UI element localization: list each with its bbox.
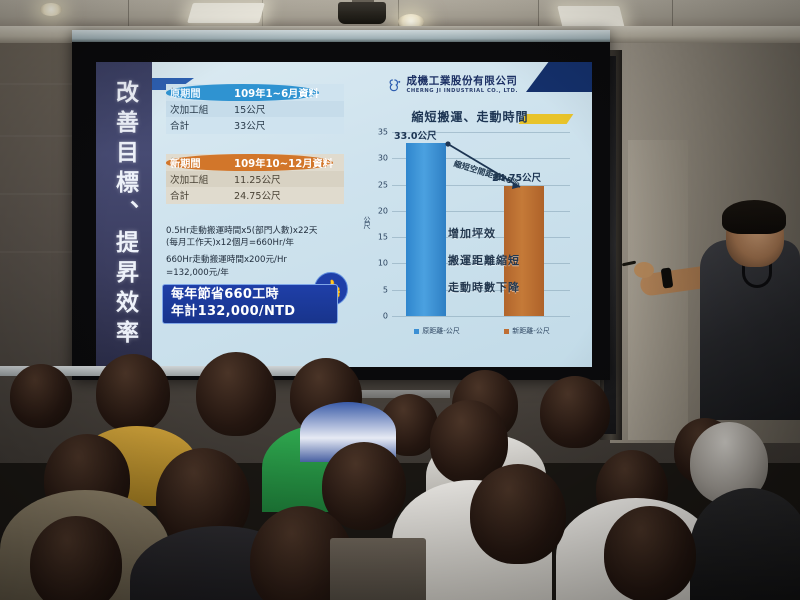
bar-chart: 縮短搬運、走動時間 公尺 0 5 10 15 20 25 30 35 [358,108,576,354]
y-tick-label: 20 [378,206,388,215]
table-header-label: 新期間 [166,155,228,170]
projected-slide: 改善目標、提昇效率 成機工業股份有限公司 CHERNG JI INDUSTRIA… [96,62,592,367]
screenshot-stage: 改善目標、提昇效率 成機工業股份有限公司 CHERNG JI INDUSTRIA… [0,0,800,600]
logo-mark-icon [388,77,403,93]
logo-company-name-cn: 成機工業股份有限公司 [407,76,518,87]
wall-texture-line [0,193,72,195]
table-cell-label: 合計 [166,118,228,132]
audience-head [322,442,406,530]
projection-screen-roller [72,30,610,42]
savings-line-2: 年計132,000/NTD [171,304,337,321]
presenter-hair [722,200,786,234]
slide-vertical-title-band: 改善目標、提昇效率 [96,62,152,367]
y-tick-label: 25 [378,180,388,189]
savings-callout-box: 每年節省660工時 年計132,000/NTD [162,284,338,324]
ceiling-light-panel [187,3,265,23]
table-header-label: 原期間 [166,85,228,100]
table-row: 次加工組 11.25公尺 [166,171,344,188]
audience-shoulders [690,488,800,600]
calculation-line-2: (每月工作天)x12個月=660Hr/年 [166,238,294,248]
audience-head [470,464,566,564]
calculation-line-4: =132,000元/年 [166,268,229,278]
table-cell-label: 合計 [166,188,228,202]
y-tick-label: 10 [378,259,388,268]
company-logo: 成機工業股份有限公司 CHERNG JI INDUSTRIAL CO., LTD… [388,76,518,94]
ceiling-spotlight [40,3,62,16]
gridline: 0 [392,316,570,317]
audience [0,330,800,600]
table-row: 合計 33公尺 [166,117,344,134]
logo-company-name-en: CHERNG JI INDUSTRIAL CO., LTD. [407,88,518,94]
wall-texture-line [0,135,72,137]
header-navy-accent [526,62,592,92]
table-header-row: 新期間 109年10~12月資料 [166,154,333,171]
audience-head [10,364,72,428]
table-cell-value: 15公尺 [228,102,344,116]
table-header-value: 109年1~6月資料 [228,85,319,100]
chart-title: 縮短搬運、走動時間 [370,108,570,125]
table-new-period: 新期間 109年10~12月資料 加工組 13.5公尺 次加工組 11.25公尺… [166,154,344,204]
ceiling-projector [338,2,386,24]
table-cell-value: 33公尺 [228,118,344,132]
seat-back [330,538,426,600]
table-cell-label: 次加工組 [166,102,228,116]
table-cell-value: 11.25公尺 [228,172,344,186]
table-original-period: 原期間 109年1~6月資料 加工組 18公尺 次加工組 15公尺 合計 33公… [166,84,344,134]
table-header-row: 原期間 109年1~6月資料 [166,84,319,101]
chart-y-axis-label: 公尺 [362,216,372,228]
audience-head [604,506,696,600]
audience-head [96,354,170,432]
ceiling-light-panel [557,6,624,28]
presenter-hand [634,262,654,278]
audience-head [196,352,276,436]
y-tick-label: 35 [378,128,388,137]
callout-item: 走動時數下降 [448,282,566,293]
slide-vertical-title: 改善目標、提昇效率 [113,80,136,350]
y-tick-label: 5 [383,285,388,294]
callout-item: 增加坪效 [448,228,566,239]
table-cell-label: 次加工組 [166,172,228,186]
callout-item: 搬運距離縮短 [448,255,566,266]
table-row: 次加工組 15公尺 [166,101,344,118]
chart-plot-area: 0 5 10 15 20 25 30 35 33.0公尺 24.75公尺 [392,132,570,316]
wall-texture-line [0,83,72,85]
slide-content: 成機工業股份有限公司 CHERNG JI INDUSTRIAL CO., LTD… [152,62,592,367]
savings-line-1: 每年節省660工時 [171,287,337,304]
y-tick-label: 0 [383,312,388,321]
calculation-line-1: 0.5Hr走動搬運時間x5(部門人數)x22天 [166,226,317,236]
table-cell-value: 24.75公尺 [228,188,344,202]
chart-callout-list: 增加坪效 搬運距離縮短 走動時數下降 [448,228,566,309]
audience-head [540,376,610,448]
y-tick-label: 15 [378,233,388,242]
y-tick-label: 30 [378,154,388,163]
table-header-value: 109年10~12月資料 [228,155,333,170]
calculation-line-3: 660Hr走動搬運時間x200元/Hr [166,255,287,265]
wall-texture-line [0,251,72,253]
table-row: 合計 24.75公尺 [166,187,344,204]
